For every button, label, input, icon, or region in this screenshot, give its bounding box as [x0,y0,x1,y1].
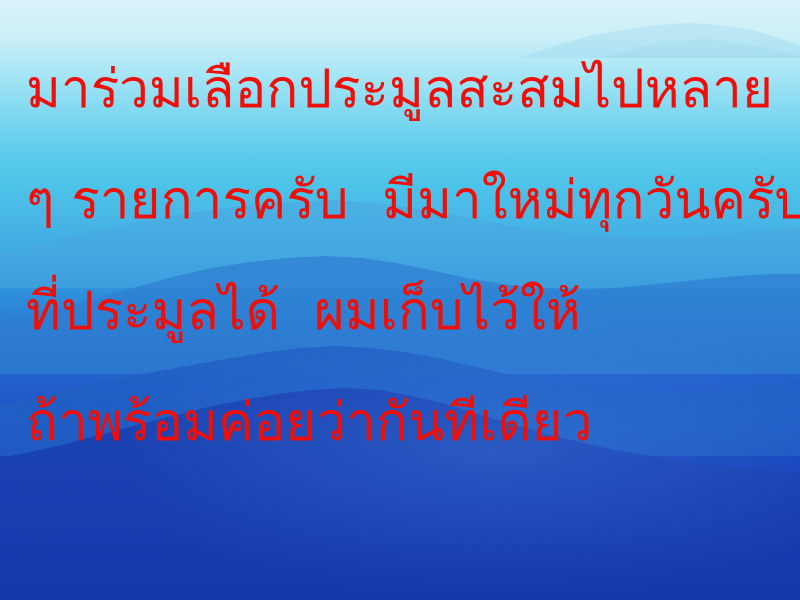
caption-line-1: มาร่วมเลือกประมูลสะสมไปหลาย [26,34,800,145]
caption-line-3: ที่ประมูลได้ ผมเก็บไว้ให้ [26,256,800,367]
banner-image: มาร่วมเลือกประมูลสะสมไปหลาย ๆ รายการครับ… [0,0,800,600]
caption-line-4: ถ้าพร้อมค่อยว่ากันทีเดียว [26,367,800,478]
caption-overlay: มาร่วมเลือกประมูลสะสมไปหลาย ๆ รายการครับ… [0,0,800,600]
caption-line-2: ๆ รายการครับ มีมาใหม่ทุกวันครับ [26,145,800,256]
